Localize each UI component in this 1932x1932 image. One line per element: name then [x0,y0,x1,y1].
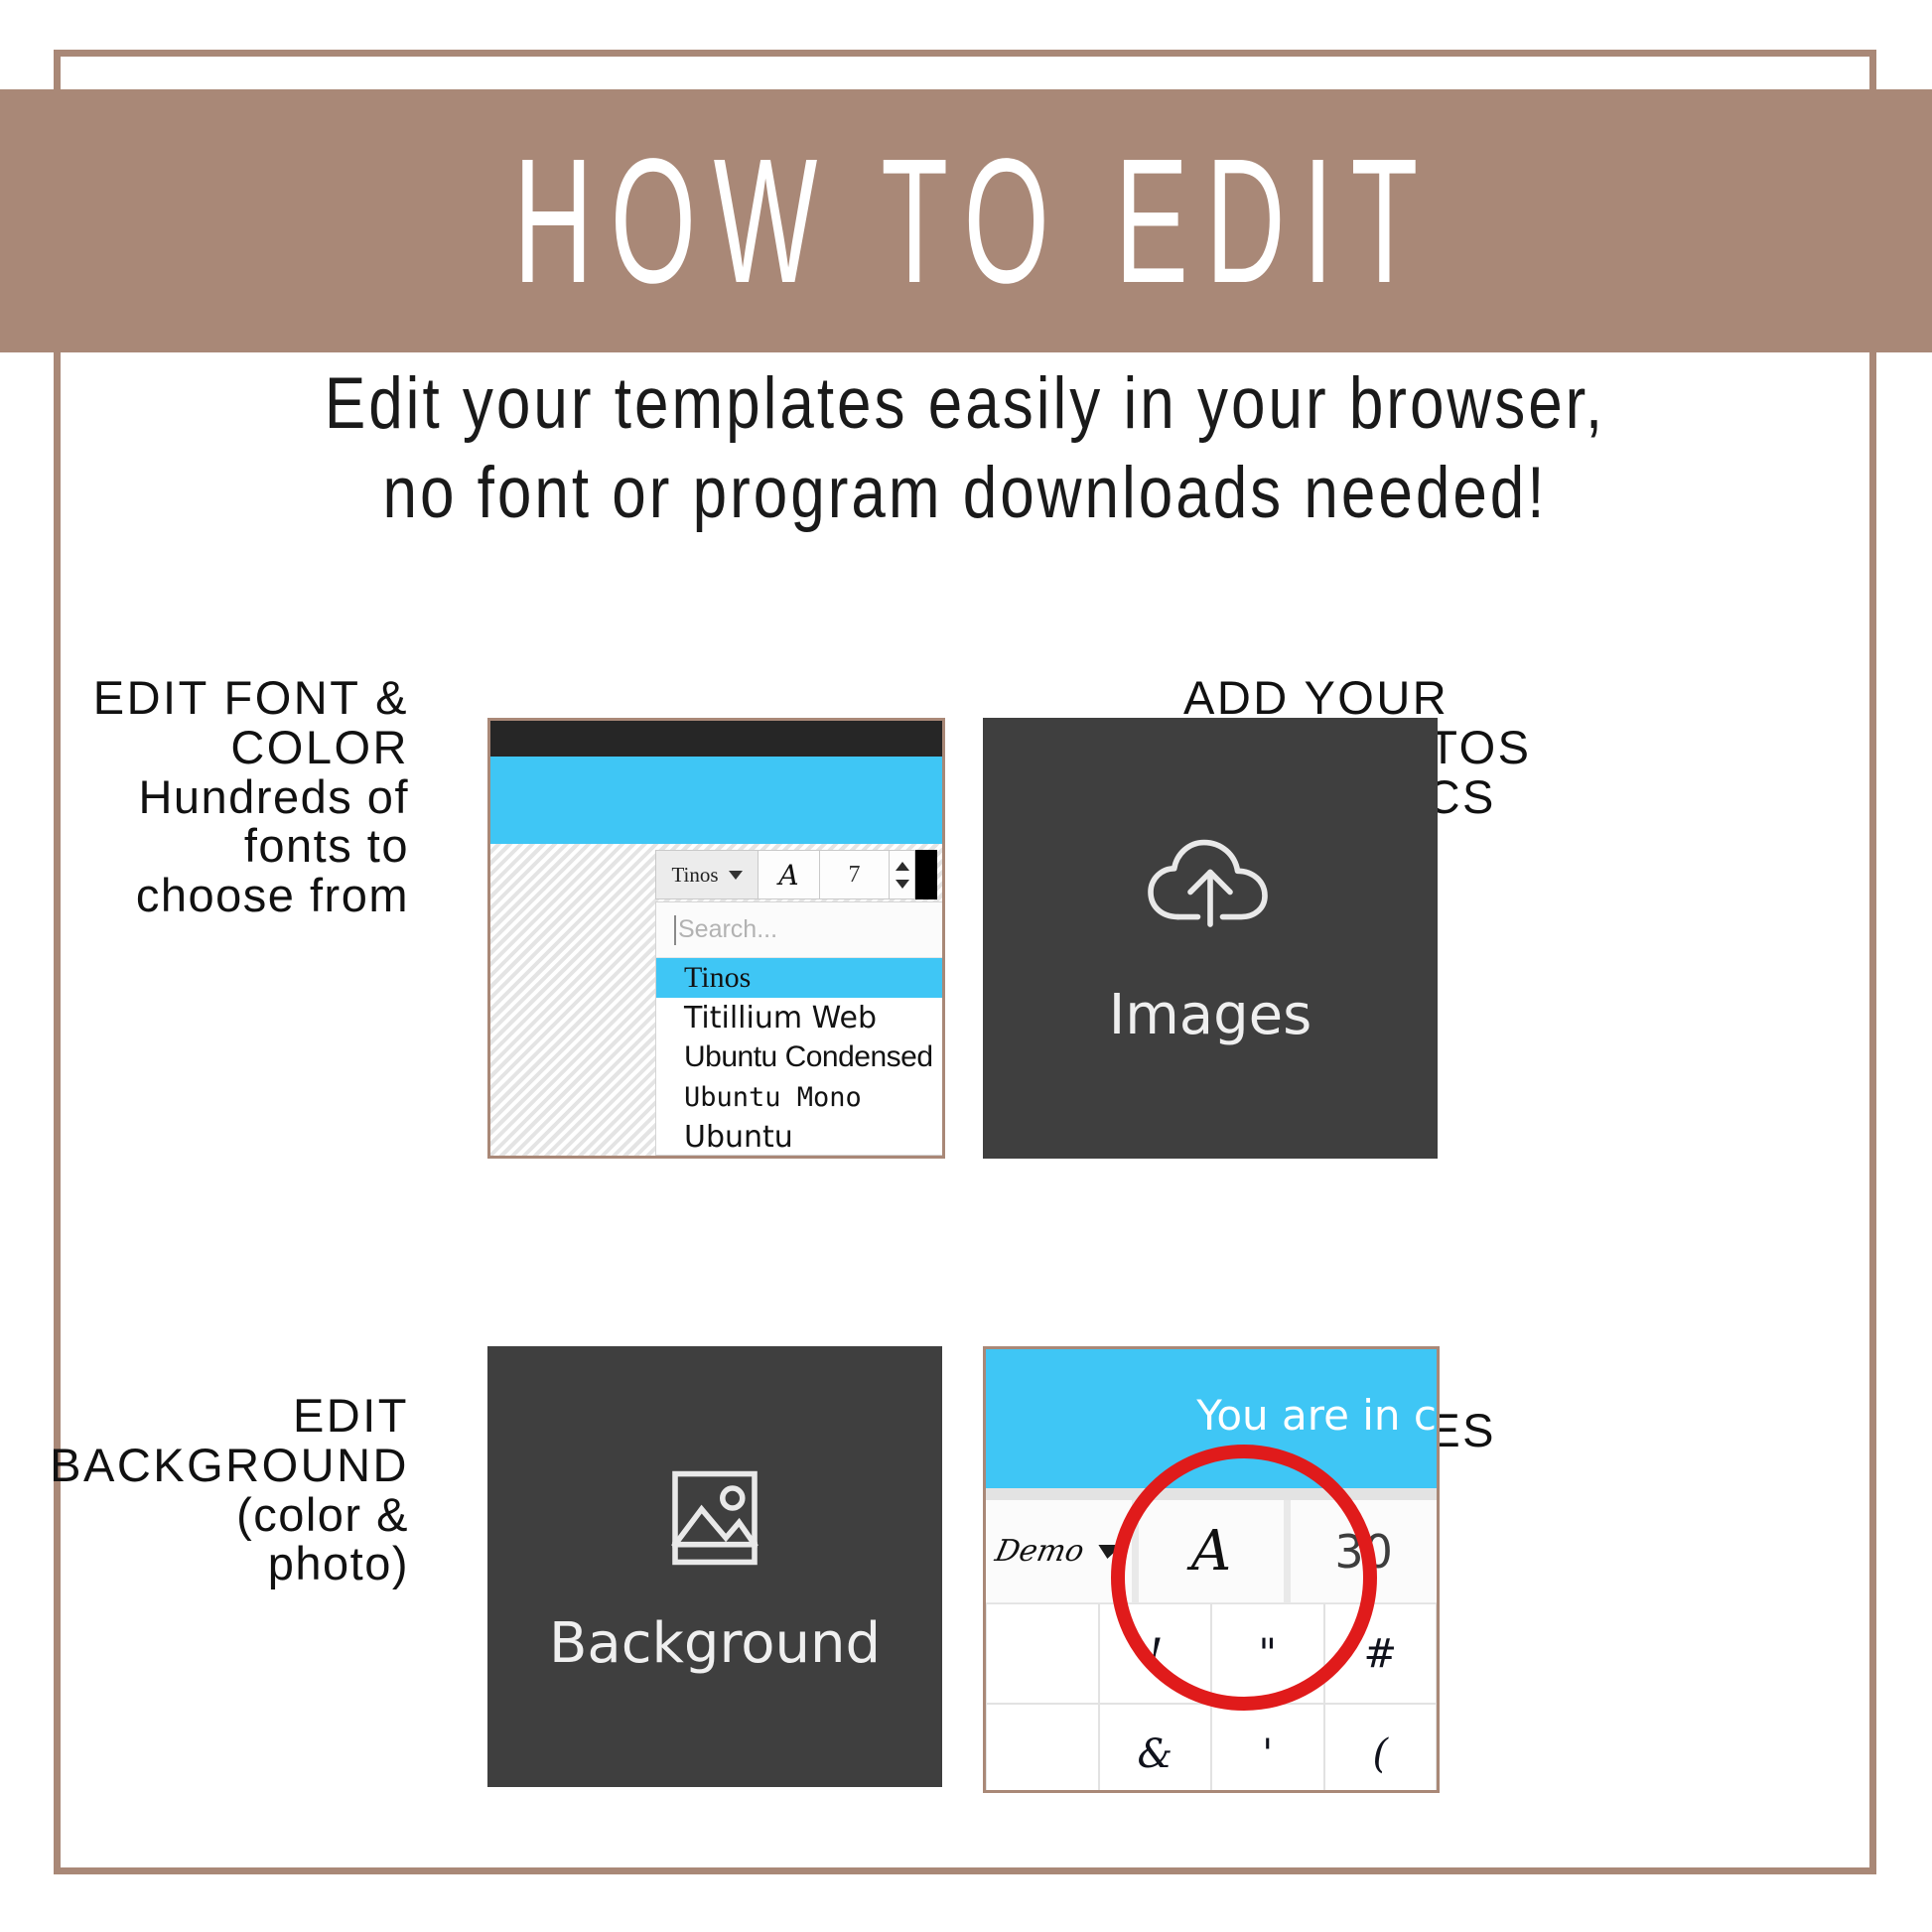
font-option-tinos[interactable]: Tinos [656,958,942,998]
caption-body-line: (color & [0,1490,409,1540]
chevron-down-icon [729,871,743,880]
font-option-label: Titillium Web [684,1001,877,1035]
text-cursor [674,915,676,945]
glyph-cell[interactable]: ' [1211,1704,1324,1793]
caption-heading: EDIT BACKGROUND [0,1391,409,1490]
font-option-ubuntu[interactable]: Ubuntu [656,1117,942,1157]
character-map-screenshot: You are in c Demo A 30 ! [983,1346,1440,1793]
highlight-circle-annotation [1111,1445,1377,1711]
font-option-label: Ubuntu Mono [684,1082,862,1113]
app-canvas: Tinos A 7 [490,844,942,1159]
font-style-button[interactable]: A [759,850,820,899]
font-size-value: 7 [849,862,861,889]
image-placeholder-icon [640,1458,789,1578]
subtitle-line-2: no font or program downloads needed! [54,458,1876,530]
font-toolbar: Tinos A 7 [655,850,937,899]
caption-body-line: fonts to [0,821,409,871]
caption-body: Hundreds of fonts to choose from [0,772,409,920]
caption-body-line: photo) [0,1539,409,1588]
font-dropdown-menu: Search... Tinos Titillium Web Ubuntu Con… [655,901,943,1156]
header-banner: HOW TO EDIT [0,89,1932,352]
caption-heading-line: BACKGROUND [0,1441,409,1490]
caption-heading-line: EDIT FONT & [0,673,409,723]
app-titlebar [490,721,942,757]
font-family-value: Tinos [671,863,718,888]
font-option-label: Ubuntu Condensed [684,1040,933,1074]
cloud-upload-icon [1136,830,1285,949]
font-option-label: Ubuntu [684,1120,793,1155]
font-search-input[interactable]: Search... [656,902,942,958]
banner-message: You are in c [1196,1391,1437,1440]
font-search-placeholder: Search... [678,915,777,944]
caption-body: (color & photo) [0,1490,409,1589]
page-title: HOW TO EDIT [496,132,1436,310]
caption-edit-background: EDIT BACKGROUND (color & photo) [0,1391,409,1588]
caption-heading: EDIT FONT & COLOR [0,673,409,772]
caption-body-line: Hundreds of [0,772,409,822]
stepper-down-icon[interactable] [896,880,909,889]
caption-body-line: choose from [0,871,409,920]
caption-heading-line: COLOR [0,723,409,772]
font-option-titillium-web[interactable]: Titillium Web [656,998,942,1037]
font-picker-screenshot: Tinos A 7 [487,718,945,1159]
glyph-cell[interactable] [986,1603,1099,1704]
subtitle: Edit your templates easily in your brows… [54,368,1876,546]
font-option-label: Tinos [684,961,751,995]
glyph-cell[interactable] [986,1704,1099,1793]
glyph-cell[interactable]: ( [1324,1704,1438,1793]
script-a-icon: A [778,859,798,892]
images-tile-label: Images [1109,983,1312,1047]
background-tile[interactable]: Background [487,1346,942,1787]
app-blue-banner [490,757,942,844]
font-family-value-wrap: Demo [992,1534,1125,1569]
stepper-up-icon[interactable] [896,862,909,871]
glyph-cell[interactable]: & [1099,1704,1212,1793]
caption-edit-font-color: EDIT FONT & COLOR Hundreds of fonts to c… [0,673,409,920]
font-option-ubuntu-mono[interactable]: Ubuntu Mono [656,1077,942,1117]
caption-heading-line: EDIT [0,1391,409,1441]
font-family-select[interactable]: Tinos [655,850,759,899]
font-family-value: Demo [992,1534,1087,1569]
images-tile[interactable]: Images [983,718,1438,1159]
font-option-ubuntu-condensed[interactable]: Ubuntu Condensed [656,1037,942,1077]
poster-page: HOW TO EDIT Edit your templates easily i… [0,0,1932,1932]
font-size-input[interactable]: 7 [820,850,890,899]
color-swatch[interactable] [915,850,937,899]
font-size-stepper[interactable] [890,850,915,899]
content-area: Edit your templates easily in your brows… [54,353,1876,1874]
caption-heading-line: ADD YOUR [1183,673,1610,723]
subtitle-line-1: Edit your templates easily in your brows… [54,368,1876,441]
background-tile-label: Background [549,1611,881,1676]
